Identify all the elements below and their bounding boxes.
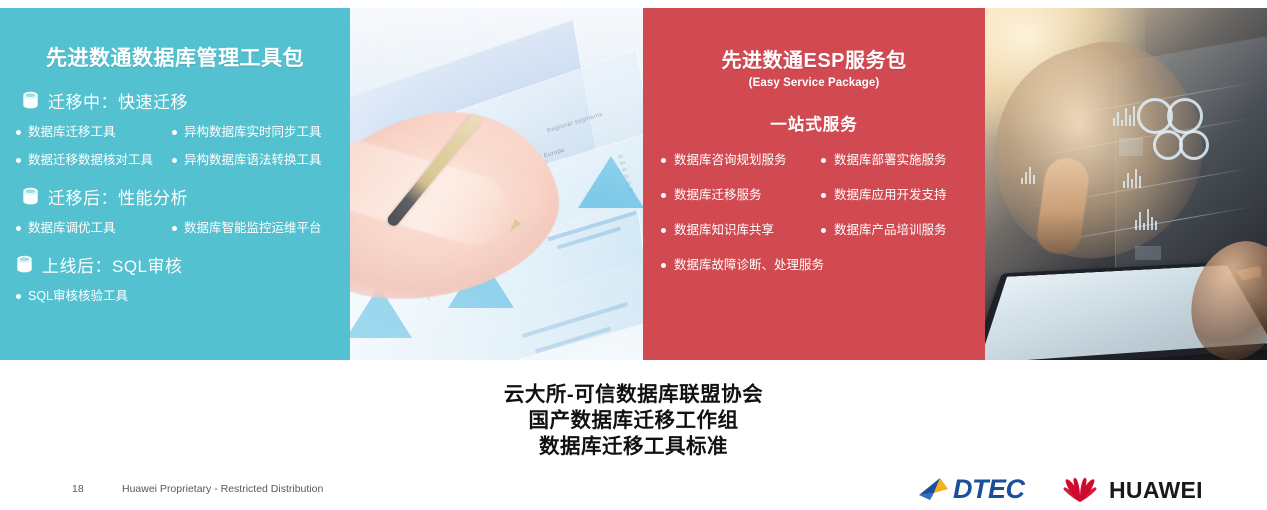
bottom-title-line-3: 数据库迁移工具标准 — [0, 434, 1267, 460]
teal-section-heading-migrating: 迁移中：快速迁移 — [22, 88, 350, 113]
bullet-dot-icon — [16, 158, 21, 163]
teal-section-heading-after-golive: 上线后：SQL审核 — [16, 252, 350, 277]
dtec-wordmark: DTEC — [953, 476, 1025, 503]
list-item: 数据迁移数据核对工具 — [0, 153, 168, 168]
huawei-flower-icon — [1060, 475, 1100, 505]
database-icon — [22, 187, 39, 206]
database-icon — [16, 255, 33, 274]
bullet-dot-icon — [172, 130, 177, 135]
bullet-dot-icon — [821, 228, 826, 233]
photo-holo-tile — [1135, 246, 1161, 260]
teal-panel-title: 先进数通数据库管理工具包 — [0, 42, 350, 72]
teal-bullet-grid-migrating: 数据库迁移工具 异构数据库实时同步工具 数据迁移数据核对工具 异构数据库语法转换… — [0, 125, 350, 168]
teal-bullet-grid-after-golive: SQL审核核验工具 — [0, 289, 350, 304]
list-item: 数据库迁移工具 — [0, 125, 168, 140]
list-item-label: 数据库迁移工具 — [28, 125, 116, 140]
charts-photo: Regional segments Central Europe East Eu… — [350, 8, 643, 360]
bullet-dot-icon — [821, 193, 826, 198]
teal-section-heading-after-migration: 迁移后：性能分析 — [22, 184, 350, 209]
bottom-title-line-1: 云大所-可信数据库联盟协会 — [0, 382, 1267, 408]
list-item: 数据库产品培训服务 — [815, 223, 985, 238]
database-icon — [22, 91, 39, 110]
red-panel-subtitle: (Easy Service Package) — [643, 77, 985, 89]
photo-area-chart — [578, 156, 643, 208]
dtec-arrow-icon — [918, 476, 952, 502]
list-item-label: 数据库咨询规划服务 — [674, 153, 787, 168]
huawei-logo: HUAWEI — [1060, 473, 1203, 507]
teal-section-label: 上线后：SQL审核 — [42, 252, 183, 277]
bottom-title-line-2: 国产数据库迁移工作组 — [0, 408, 1267, 434]
list-item-label: 数据迁移数据核对工具 — [28, 153, 153, 168]
bullet-dot-icon — [172, 158, 177, 163]
list-item: 数据库智能监控运维平台 — [168, 221, 350, 236]
teal-toolkit-panel: 先进数通数据库管理工具包 迁移中：快速迁移 数据库迁移工具 异构数据库实时同步工… — [0, 8, 350, 360]
photo-holo-bar-chart — [1021, 166, 1035, 184]
red-panel-title: 先进数通ESP服务包 — [643, 44, 985, 73]
list-item-label: 数据库知识库共享 — [674, 223, 774, 238]
list-item: 数据库应用开发支持 — [815, 188, 985, 203]
confidentiality-note: Huawei Proprietary - Restricted Distribu… — [122, 483, 323, 495]
dtec-logo: DTEC — [918, 471, 1025, 507]
list-item: 数据库调优工具 — [0, 221, 168, 236]
list-item: 异构数据库实时同步工具 — [168, 125, 350, 140]
list-item-label: 数据库智能监控运维平台 — [184, 221, 322, 236]
teal-section-label: 迁移后：性能分析 — [48, 184, 188, 209]
list-item-label: 数据库故障诊断、处理服务 — [674, 258, 824, 273]
huawei-wordmark: HUAWEI — [1109, 479, 1203, 502]
list-item-label: 数据库调优工具 — [28, 221, 116, 236]
bottom-title-block: 云大所-可信数据库联盟协会 国产数据库迁移工作组 数据库迁移工具标准 — [0, 382, 1267, 460]
slide-footer: 18 Huawei Proprietary - Restricted Distr… — [0, 480, 1267, 510]
bullet-dot-icon — [16, 130, 21, 135]
teal-section-label: 迁移中：快速迁移 — [48, 88, 188, 113]
bullet-dot-icon — [661, 263, 666, 268]
red-panel-section-heading: 一站式服务 — [643, 111, 985, 135]
bullet-dot-icon — [16, 294, 21, 299]
tablet-photo — [985, 8, 1267, 360]
bullet-dot-icon — [661, 228, 666, 233]
list-item-label: 数据库迁移服务 — [674, 188, 762, 203]
list-item: 数据库故障诊断、处理服务 — [643, 258, 985, 273]
bullet-dot-icon — [16, 226, 21, 231]
photo-holo-bar-chart — [1113, 104, 1135, 126]
list-item-label: SQL审核核验工具 — [28, 289, 128, 304]
photo-holo-ring-icon — [1167, 98, 1203, 134]
photo-holo-ring-icon — [1179, 130, 1209, 160]
red-service-grid: 数据库咨询规划服务 数据库部署实施服务 数据库迁移服务 数据库应用开发支持 数据… — [643, 153, 985, 273]
photo-holo-bar-chart — [1123, 168, 1141, 188]
photo-holo-bar-chart — [1135, 208, 1157, 230]
bullet-dot-icon — [661, 158, 666, 163]
list-item: 数据库部署实施服务 — [815, 153, 985, 168]
page-number: 18 — [72, 483, 84, 495]
teal-bullet-grid-after-migration: 数据库调优工具 数据库智能监控运维平台 — [0, 221, 350, 236]
list-item: 数据库迁移服务 — [643, 188, 815, 203]
photo-holo-tile — [1119, 138, 1143, 156]
bullet-dot-icon — [172, 226, 177, 231]
bullet-dot-icon — [821, 158, 826, 163]
list-item: SQL审核核验工具 — [0, 289, 350, 304]
list-item-label: 数据库部署实施服务 — [834, 153, 947, 168]
list-item-label: 异构数据库语法转换工具 — [184, 153, 322, 168]
list-item-label: 异构数据库实时同步工具 — [184, 125, 322, 140]
bullet-dot-icon — [661, 193, 666, 198]
list-item: 数据库知识库共享 — [643, 223, 815, 238]
list-item-label: 数据库产品培训服务 — [834, 223, 947, 238]
list-item: 异构数据库语法转换工具 — [168, 153, 350, 168]
slide-content-band: 先进数通数据库管理工具包 迁移中：快速迁移 数据库迁移工具 异构数据库实时同步工… — [0, 8, 1267, 360]
red-esp-panel: 先进数通ESP服务包 (Easy Service Package) 一站式服务 … — [643, 8, 985, 360]
list-item: 数据库咨询规划服务 — [643, 153, 815, 168]
list-item-label: 数据库应用开发支持 — [834, 188, 947, 203]
